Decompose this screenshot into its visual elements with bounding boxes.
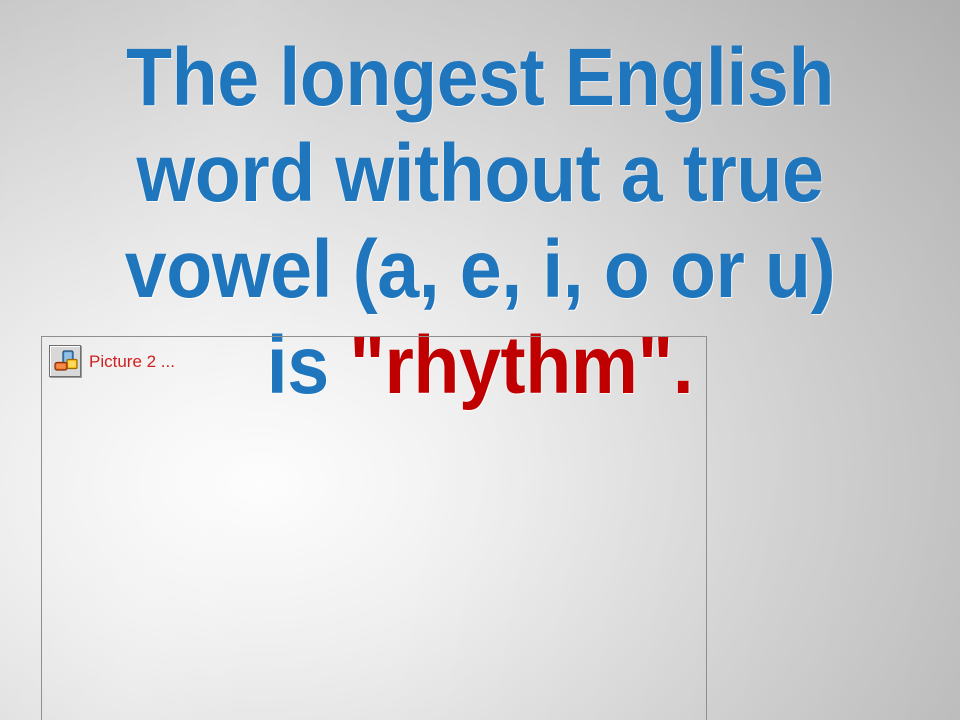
picture-placeholder-header: Picture 2 ... xyxy=(49,345,175,377)
title-line-2: word without a true xyxy=(38,126,921,222)
title-line-1: The longest English xyxy=(38,30,921,126)
picture-placeholder-frame[interactable]: Picture 2 ... xyxy=(41,336,707,720)
broken-image-icon xyxy=(49,345,81,377)
picture-placeholder-caption: Picture 2 ... xyxy=(89,353,175,370)
title-line-3: vowel (a, e, i, o or u) xyxy=(38,222,921,318)
slide-canvas: The longest English word without a true … xyxy=(0,0,960,720)
